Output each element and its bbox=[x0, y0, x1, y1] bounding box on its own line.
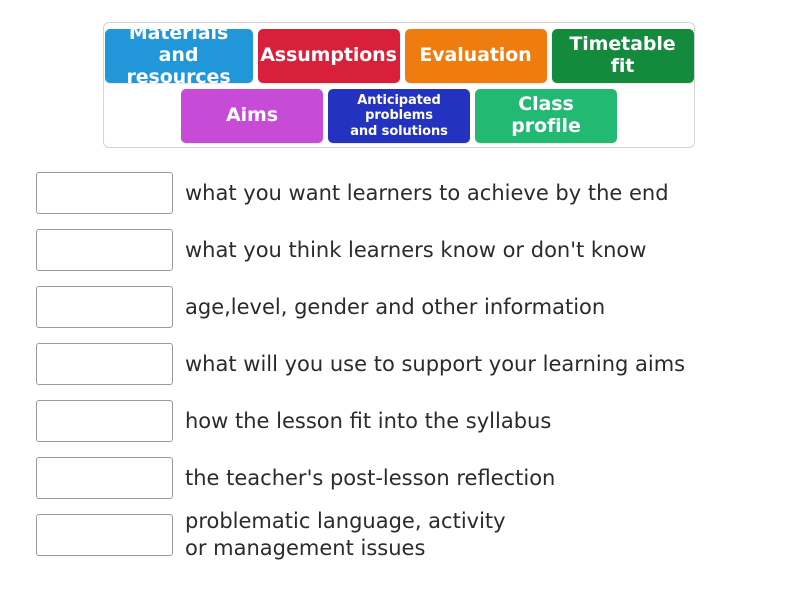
drop-zone[interactable] bbox=[36, 514, 173, 556]
draggable-tile[interactable]: Evaluation bbox=[405, 29, 547, 83]
tile-bank-row-1: Materials and resourcesAssumptionsEvalua… bbox=[104, 23, 694, 83]
answer-text: the teacher's post-lesson reflection bbox=[185, 465, 555, 492]
answer-text: how the lesson fit into the syllabus bbox=[185, 408, 551, 435]
answer-text: age,level, gender and other information bbox=[185, 294, 605, 321]
draggable-tile[interactable]: Timetable fit bbox=[552, 29, 694, 83]
draggable-tile[interactable]: Assumptions bbox=[258, 29, 400, 83]
answer-text: what you want learners to achieve by the… bbox=[185, 180, 669, 207]
answer-text: what will you use to support your learni… bbox=[185, 351, 685, 378]
answer-row: age,level, gender and other information bbox=[36, 286, 766, 328]
draggable-tile[interactable]: Aims bbox=[181, 89, 323, 143]
answer-row: the teacher's post-lesson reflection bbox=[36, 457, 766, 499]
drop-zone[interactable] bbox=[36, 343, 173, 385]
drop-zone[interactable] bbox=[36, 457, 173, 499]
answer-row: what you want learners to achieve by the… bbox=[36, 172, 766, 214]
drop-zone[interactable] bbox=[36, 400, 173, 442]
answer-row: what you think learners know or don't kn… bbox=[36, 229, 766, 271]
answer-row: problematic language, activity or manage… bbox=[36, 514, 766, 556]
tile-bank-row-2: AimsAnticipated problems and solutionsCl… bbox=[104, 83, 694, 143]
answer-row: what will you use to support your learni… bbox=[36, 343, 766, 385]
answer-text: what you think learners know or don't kn… bbox=[185, 237, 646, 264]
answer-row: how the lesson fit into the syllabus bbox=[36, 400, 766, 442]
draggable-tile[interactable]: Class profile bbox=[475, 89, 617, 143]
drop-zone[interactable] bbox=[36, 172, 173, 214]
drop-zone[interactable] bbox=[36, 229, 173, 271]
drop-zone[interactable] bbox=[36, 286, 173, 328]
answer-list: what you want learners to achieve by the… bbox=[36, 172, 766, 571]
tile-bank: Materials and resourcesAssumptionsEvalua… bbox=[103, 22, 695, 148]
answer-text: problematic language, activity or manage… bbox=[185, 508, 506, 562]
draggable-tile[interactable]: Anticipated problems and solutions bbox=[328, 89, 470, 143]
draggable-tile[interactable]: Materials and resources bbox=[105, 29, 253, 83]
